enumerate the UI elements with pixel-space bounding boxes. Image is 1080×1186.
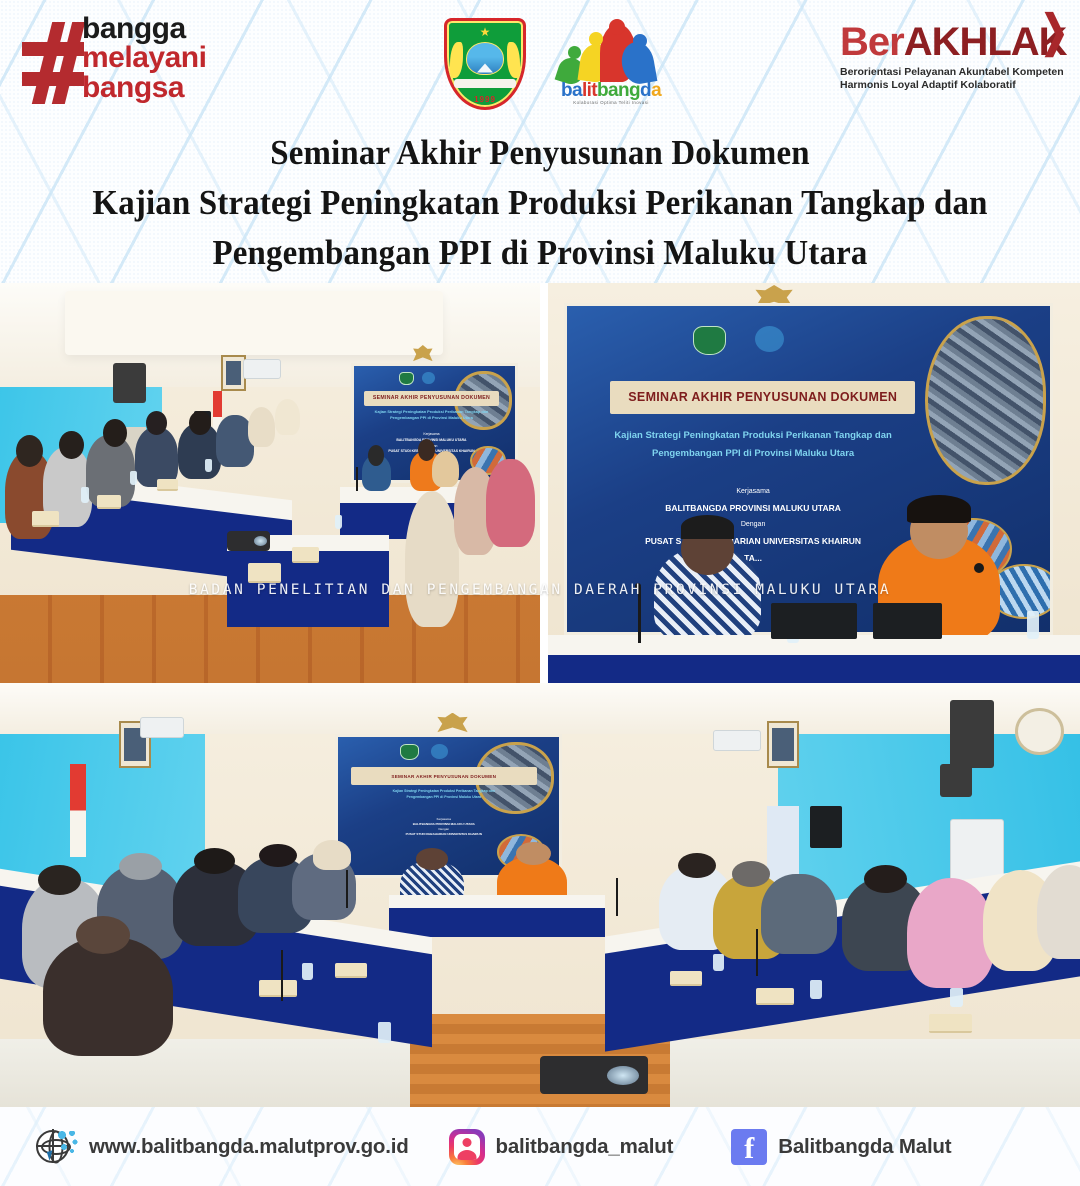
bangga-melayani-bangsa-logo: bangga melayani bangsa: [22, 14, 252, 114]
chevron-right-icon: ❯: [1041, 10, 1068, 54]
maluku-utara-crest-icon: ★ 1999: [444, 18, 526, 110]
bangga-line-2: melayani: [82, 43, 206, 72]
banner-heading-3: SEMINAR AKHIR PENYUSUNAN DOKUMEN: [351, 767, 536, 785]
facebook-label: Balitbangda Malut: [778, 1135, 951, 1159]
banner-orgs-2: Kerjasama BALITBANGDA PROVINSI MALUKU UT…: [591, 485, 915, 568]
banner-subtitle-2: Kajian Strategi Peningkatan Produksi Per…: [591, 427, 915, 463]
balitbangda-word-d: d: [640, 80, 651, 101]
website-label: www.balitbangda.malutprov.go.id: [89, 1135, 409, 1159]
photo-room-wide-bottom: SEMINAR AKHIR PENYUSUNAN DOKUMEN Kajian …: [0, 683, 1080, 1107]
banner-orgs-3: Kerjasama BALITBANGDA PROVINSI MALUKU UT…: [347, 817, 541, 837]
banner-heading-2: SEMINAR AKHIR PENYUSUNAN DOKUMEN: [610, 381, 915, 414]
photo-watermark: BADAN PENELITIAN DAN PENGEMBANGAN DAERAH…: [0, 582, 1080, 598]
balitbangda-word-lit: lit: [582, 80, 597, 101]
balitbangda-tagline: Kolaborasi Optima Teliti Inovasi: [556, 100, 666, 105]
title-line-2: Kajian Strategi Peningkatan Produksi Per…: [32, 178, 1047, 228]
footer-facebook[interactable]: f Balitbangda Malut: [731, 1129, 951, 1165]
bangga-line-1: bangga: [82, 14, 206, 43]
title-line-3: Pengembangan PPI di Provinsi Maluku Utar…: [32, 228, 1047, 278]
balitbangda-word-a: a: [651, 80, 661, 101]
footer-instagram[interactable]: balitbangda_malut: [449, 1129, 674, 1165]
facebook-glyph: f: [744, 1134, 754, 1164]
title-line-1: Seminar Akhir Penyusunan Dokumen: [32, 128, 1047, 178]
banner-subtitle-3: Kajian Strategi Peningkatan Produksi Per…: [347, 789, 541, 800]
balitbangda-word-bang: bang: [597, 80, 640, 101]
crest-year: 1999: [444, 95, 526, 104]
hashtag-icon: [22, 22, 84, 104]
photo-collage: SEMINAR AKHIR PENYUSUNAN DOKUMEN Kajian …: [0, 283, 1080, 1107]
instagram-label: balitbangda_malut: [496, 1135, 674, 1159]
banner-subtitle: Kajian Strategi Peningkatan Produksi Per…: [360, 409, 502, 421]
balitbangda-logo: balitbangda Kolaborasi Optima Teliti Ino…: [556, 18, 666, 110]
poster-footer: www.balitbangda.malutprov.go.id balitban…: [0, 1107, 1080, 1186]
banner-heading: SEMINAR AKHIR PENYUSUNAN DOKUMEN: [364, 391, 500, 406]
poster-root: bangga melayani bangsa ★ 1999 balitbangd…: [0, 0, 1080, 1186]
projector-icon-bottom: [540, 1056, 648, 1094]
projector-icon: [227, 531, 270, 551]
poster-header: bangga melayani bangsa ★ 1999 balitbangd…: [0, 0, 1080, 283]
photo-speakers-closeup: SEMINAR AKHIR PENYUSUNAN DOKUMEN Kajian …: [548, 283, 1080, 683]
berakhlak-logo: BerAKHLAK ❯ Berorientasi Pelayanan Akunt…: [840, 22, 1066, 108]
facebook-icon: f: [731, 1129, 767, 1165]
photo-room-wide-left: SEMINAR AKHIR PENYUSUNAN DOKUMEN Kajian …: [0, 283, 540, 683]
bangga-line-3: bangsa: [82, 73, 206, 102]
berakhlak-prefix: Ber: [840, 20, 904, 64]
poster-title: Seminar Akhir Penyusunan Dokumen Kajian …: [32, 128, 1047, 278]
berakhlak-subline-2: Harmonis Loyal Adaptif Kolaboratif: [840, 79, 1066, 92]
berakhlak-subline-1: Berorientasi Pelayanan Akuntabel Kompete…: [840, 66, 1066, 79]
footer-website[interactable]: www.balitbangda.malutprov.go.id: [34, 1127, 409, 1167]
instagram-icon: [449, 1129, 485, 1165]
globe-icon: [34, 1127, 78, 1167]
balitbangda-word-ba: ba: [561, 80, 582, 101]
